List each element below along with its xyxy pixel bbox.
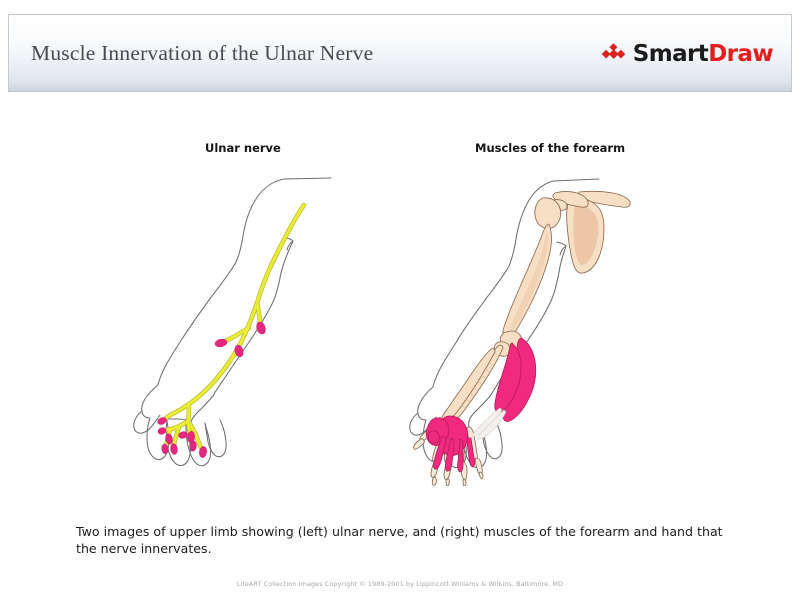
- logo-text-smart: Smart: [633, 41, 708, 67]
- page-title: Muscle Innervation of the Ulnar Nerve: [31, 41, 373, 66]
- figure-label-ulnar-nerve: Ulnar nerve: [205, 141, 281, 155]
- figure-label-forearm-muscles: Muscles of the forearm: [475, 141, 625, 155]
- illustration-ulnar-nerve: [133, 166, 358, 486]
- smartdraw-logo[interactable]: SmartDraw: [600, 41, 773, 67]
- smartdraw-diamond-logo-icon: [600, 43, 626, 65]
- copyright-notice: LifeART Collection Images Copyright © 19…: [0, 580, 800, 588]
- smartdraw-logo-text: SmartDraw: [633, 41, 773, 67]
- header-bar: Muscle Innervation of the Ulnar Nerve Sm…: [8, 14, 792, 92]
- illustration-forearm-muscles: [403, 166, 653, 486]
- logo-text-draw: Draw: [708, 41, 773, 67]
- figure-caption: Two images of upper limb showing (left) …: [76, 523, 736, 557]
- muscle-marker-group: [156, 321, 266, 458]
